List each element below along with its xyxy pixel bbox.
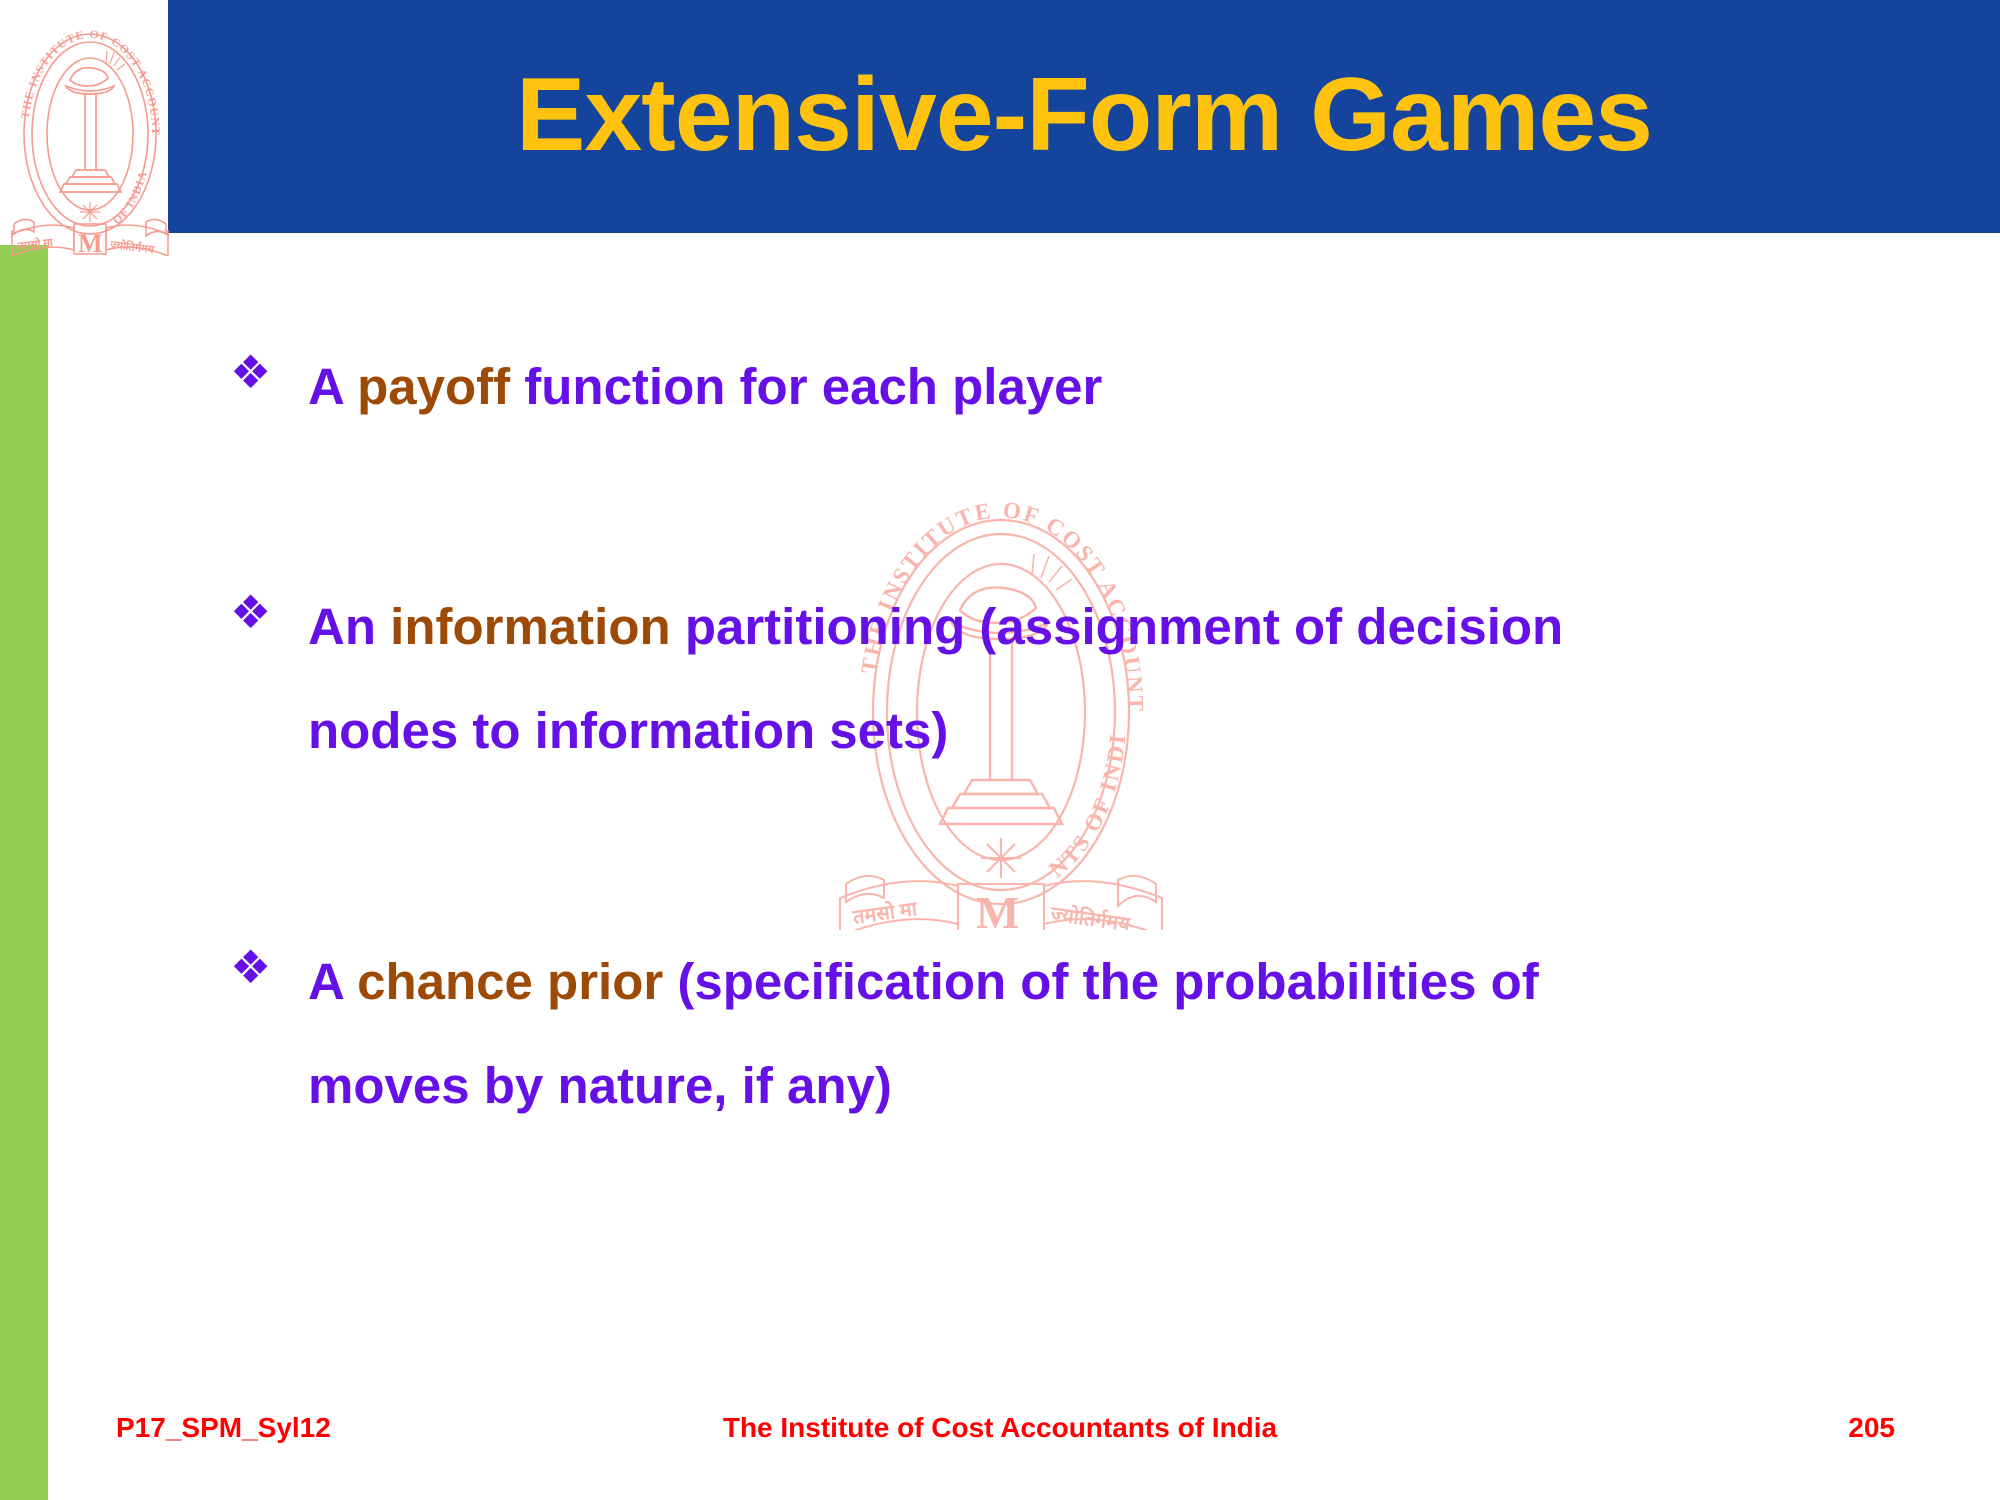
- text-segment: An: [308, 598, 390, 655]
- bullet-text: A chance prior (specification of the pro…: [308, 930, 1960, 1034]
- footer-institute-name: The Institute of Cost Accountants of Ind…: [0, 1408, 2000, 1448]
- bullet-item: ❖ A chance prior (specification of the p…: [230, 930, 1960, 1138]
- institute-logo: THE INSTITUTE OF COST ACCOUNTANTS OF IND…: [6, 2, 174, 256]
- text-segment: chance prior: [357, 953, 677, 1010]
- text-segment: payoff: [357, 358, 524, 415]
- text-segment: information: [390, 598, 685, 655]
- bullet-line: ❖ A payoff function for each player: [230, 335, 1960, 439]
- diamond-bullet-icon: ❖: [230, 335, 308, 403]
- text-segment: function for each player: [524, 358, 1102, 415]
- text-segment: moves by nature, if any): [308, 1057, 892, 1114]
- bullet-spacer: [230, 1034, 308, 1040]
- bullet-line: ❖ A chance prior (specification of the p…: [230, 930, 1960, 1034]
- text-segment: (specification of the probabilities of: [677, 953, 1538, 1010]
- slide-footer: P17_SPM_Syl12 The Institute of Cost Acco…: [0, 1400, 2000, 1460]
- text-segment: A: [308, 358, 357, 415]
- bullet-item: ❖ An information partitioning (assignmen…: [230, 575, 1960, 783]
- bullet-text: A payoff function for each player: [308, 335, 1960, 439]
- title-banner: Extensive-Form Games: [168, 0, 2000, 233]
- slide-content: ❖ A payoff function for each player ❖ An…: [0, 250, 2000, 1380]
- bullet-line: moves by nature, if any): [230, 1034, 1960, 1138]
- text-segment: nodes to information sets): [308, 702, 948, 759]
- bullet-spacer: [230, 679, 308, 685]
- bullet-item: ❖ A payoff function for each player: [230, 335, 1960, 439]
- diamond-bullet-icon: ❖: [230, 930, 308, 998]
- text-segment: A: [308, 953, 357, 1010]
- text-segment: partitioning (assignment of decision: [685, 598, 1563, 655]
- footer-page-number: 205: [1848, 1408, 1895, 1448]
- bullet-text: nodes to information sets): [308, 679, 1960, 783]
- bullet-text: moves by nature, if any): [308, 1034, 1960, 1138]
- bullet-line: nodes to information sets): [230, 679, 1960, 783]
- bullet-text: An information partitioning (assignment …: [308, 575, 1960, 679]
- bullet-line: ❖ An information partitioning (assignmen…: [230, 575, 1960, 679]
- svg-text:OF INDIA: OF INDIA: [111, 169, 150, 227]
- page-title: Extensive-Form Games: [168, 62, 2000, 166]
- diamond-bullet-icon: ❖: [230, 575, 308, 643]
